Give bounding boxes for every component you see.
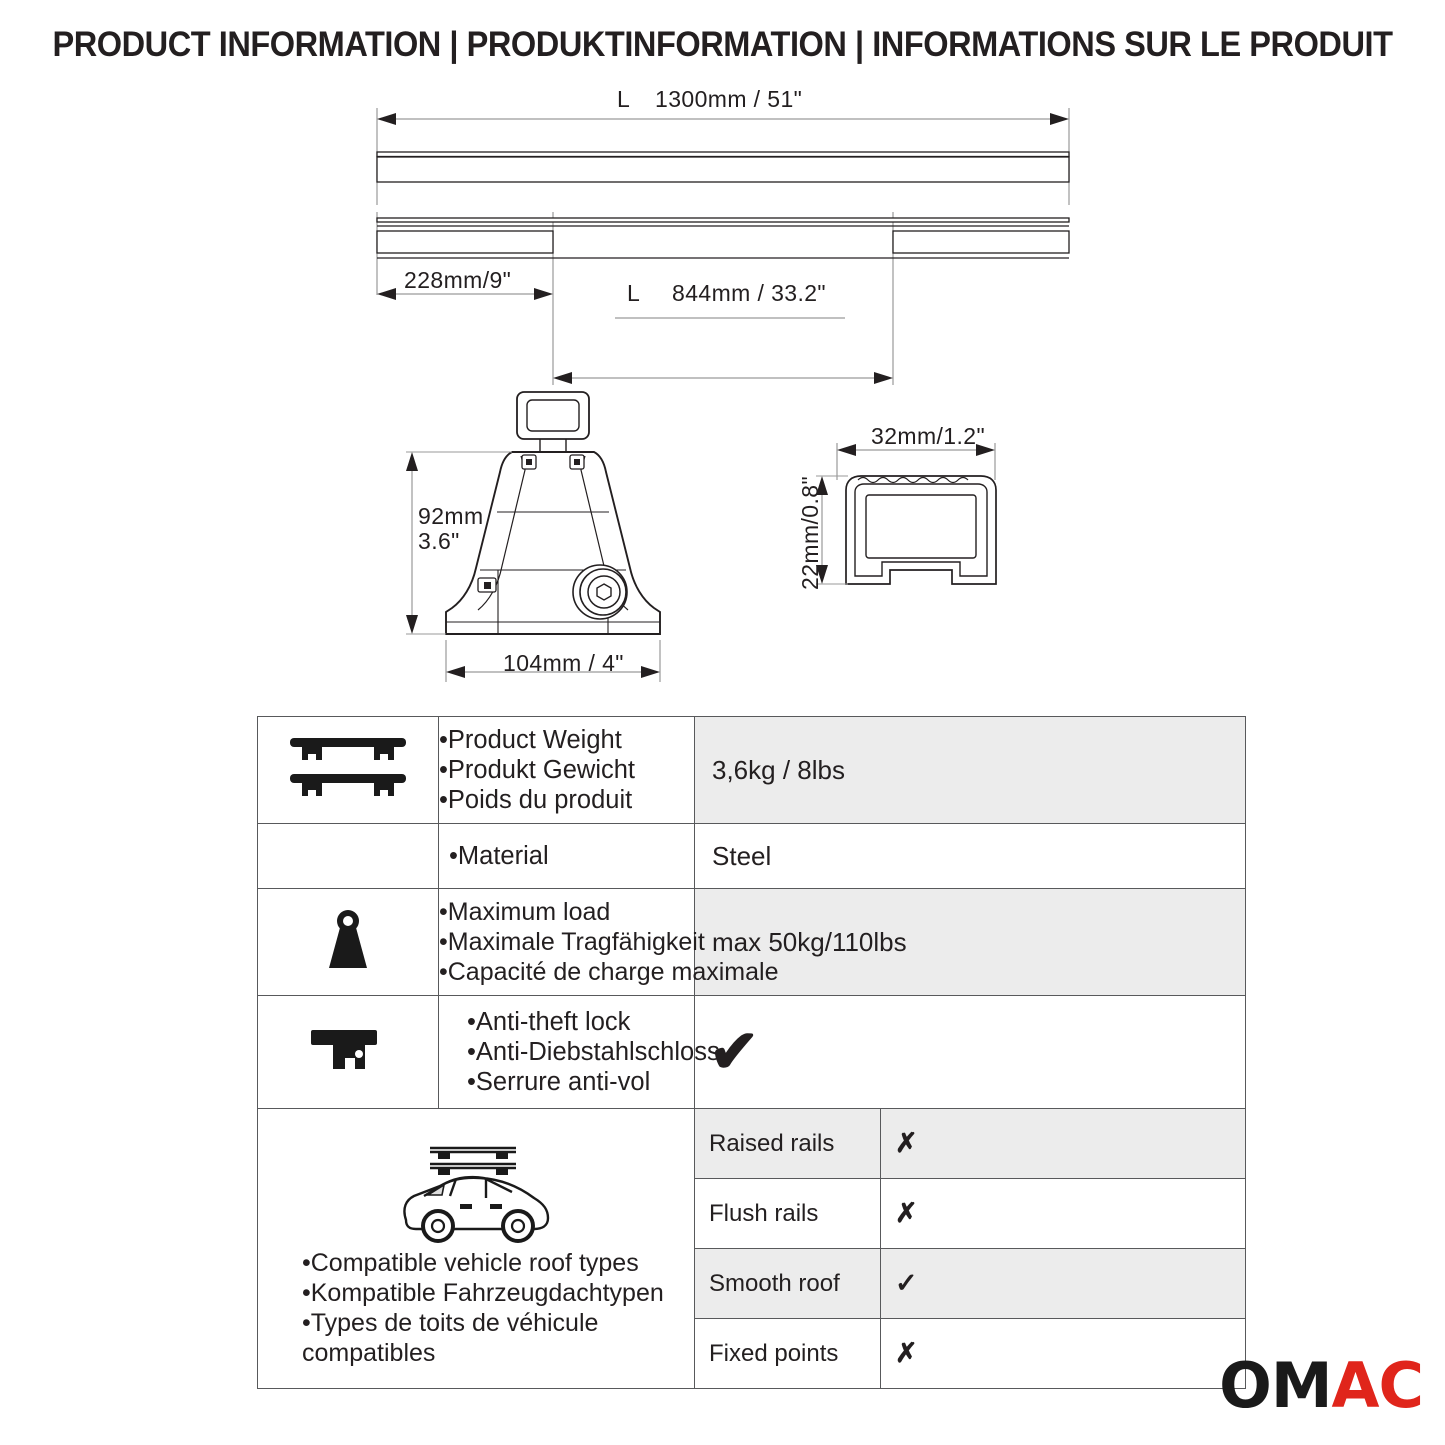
anti-theft-check-mark: ✔ <box>695 1022 1245 1082</box>
row-icon-cell <box>258 889 439 996</box>
roof-type-name-cell: Raised rails <box>695 1109 881 1179</box>
table-row: •Product Weight •Produkt Gewicht •Poids … <box>258 717 1246 824</box>
dim-foot-width: 104mm / 4" <box>503 650 624 677</box>
lock-bar-icon <box>305 1065 391 1082</box>
table-row: •Material Steel <box>258 824 1246 889</box>
roof-type-support-cell: ✗ <box>881 1109 1246 1179</box>
roof-types-label-cell: •Compatible vehicle roof types •Kompatib… <box>258 1109 695 1389</box>
row-label-cell: •Product Weight •Produkt Gewicht •Poids … <box>439 717 695 824</box>
specification-table: •Product Weight •Produkt Gewicht •Poids … <box>257 716 1246 1389</box>
row-value-cell: Steel <box>695 824 1246 889</box>
dim-end-offset: 228mm/9" <box>404 267 511 294</box>
roof-type-name-cell: Smooth roof <box>695 1249 881 1319</box>
logo-dark-part: OM <box>1219 1349 1331 1422</box>
roof-type-support-mark: ✗ <box>881 1198 1245 1229</box>
weight-icon <box>317 960 379 977</box>
car-with-rack-icon <box>258 1136 694 1244</box>
omac-logo: OMAC <box>1219 1355 1423 1417</box>
table-row: •Anti-theft lock •Anti-Diebstahlschloss … <box>258 996 1246 1109</box>
roof-type-name: Smooth roof <box>695 1270 880 1298</box>
label-line: •Product Weight <box>439 725 694 755</box>
row-value-cell: ✔ <box>695 996 1246 1109</box>
roof-type-support-mark: ✓ <box>881 1268 1245 1299</box>
dim-profile-width: 32mm/1.2" <box>871 423 985 450</box>
roof-type-support-cell: ✗ <box>881 1319 1246 1389</box>
roof-type-row: Fixed points ✗ <box>695 1319 1245 1389</box>
roof-type-name-cell: Fixed points <box>695 1319 881 1389</box>
label-line: compatibles <box>302 1338 694 1368</box>
roof-types-label-text: •Compatible vehicle roof types •Kompatib… <box>258 1248 694 1368</box>
dim-foot-height-in: 3.6" <box>418 528 460 555</box>
row-label-cell: •Maximum load •Maximale Tragfähigkeit •C… <box>439 889 695 996</box>
roof-type-name-cell: Flush rails <box>695 1179 881 1249</box>
label-line: •Capacité de charge maximale <box>439 957 694 987</box>
dim-foot-height-mm: 92mm <box>418 503 484 530</box>
label-line: •Maximale Tragfähigkeit <box>439 927 694 957</box>
dim-spread-value: 844mm / 33.2" <box>672 280 826 307</box>
label-line: •Poids du produit <box>439 785 694 815</box>
roof-type-row: Flush rails ✗ <box>695 1179 1245 1249</box>
roof-type-name: Flush rails <box>695 1200 880 1228</box>
label-line: •Serrure anti-vol <box>467 1067 694 1097</box>
product-information-sheet: PRODUCT INFORMATION | PRODUKTINFORMATION… <box>0 0 1445 1445</box>
table-row-roof-types: •Compatible vehicle roof types •Kompatib… <box>258 1109 1246 1389</box>
row-label-cell: •Material <box>439 824 695 889</box>
table-row: •Maximum load •Maximale Tragfähigkeit •C… <box>258 889 1246 996</box>
logo-accent-part: AC <box>1332 1349 1423 1422</box>
label-line: •Kompatible Fahrzeugdachtypen <box>302 1278 694 1308</box>
dim-bar-length-value: 1300mm / 51" <box>655 86 802 113</box>
label-line: •Compatible vehicle roof types <box>302 1248 694 1278</box>
roof-type-row: Raised rails ✗ <box>695 1109 1245 1179</box>
row-label-cell: •Anti-theft lock •Anti-Diebstahlschloss … <box>439 996 695 1109</box>
two-crossbars-icon <box>284 791 412 808</box>
roof-type-support-cell: ✓ <box>881 1249 1246 1319</box>
label-line: •Anti-theft lock <box>467 1007 694 1037</box>
roof-types-matrix-cell: Raised rails ✗ Flush rails <box>695 1109 1246 1389</box>
dim-spread-prefix: L <box>627 280 640 307</box>
label-line: •Maximum load <box>439 897 694 927</box>
roof-type-name: Raised rails <box>695 1130 880 1158</box>
label-line: •Types de toits de véhicule <box>302 1308 694 1338</box>
dim-bar-length-prefix: L <box>617 86 630 113</box>
roof-type-name: Fixed points <box>695 1340 880 1368</box>
dim-profile-height: 22mm/0.8" <box>797 476 824 590</box>
roof-type-support-mark: ✗ <box>881 1338 1245 1369</box>
label-line: •Material <box>449 841 694 871</box>
roof-type-row: Smooth roof ✓ <box>695 1249 1245 1319</box>
max-load-value: max 50kg/110lbs <box>695 927 1245 958</box>
label-line: •Anti-Diebstahlschloss <box>467 1037 694 1067</box>
row-icon-cell <box>258 717 439 824</box>
row-icon-cell <box>258 824 439 889</box>
technical-drawings: L 1300mm / 51" 228mm/9" L 844mm / 33.2" … <box>0 0 1445 710</box>
row-icon-cell <box>258 996 439 1109</box>
material-value: Steel <box>695 841 1245 872</box>
row-value-cell: 3,6kg / 8lbs <box>695 717 1246 824</box>
label-line: •Produkt Gewicht <box>439 755 694 785</box>
roof-types-table: Raised rails ✗ Flush rails <box>695 1109 1245 1388</box>
roof-type-support-mark: ✗ <box>881 1128 1245 1159</box>
product-weight-value: 3,6kg / 8lbs <box>695 755 1245 786</box>
roof-type-support-cell: ✗ <box>881 1179 1246 1249</box>
